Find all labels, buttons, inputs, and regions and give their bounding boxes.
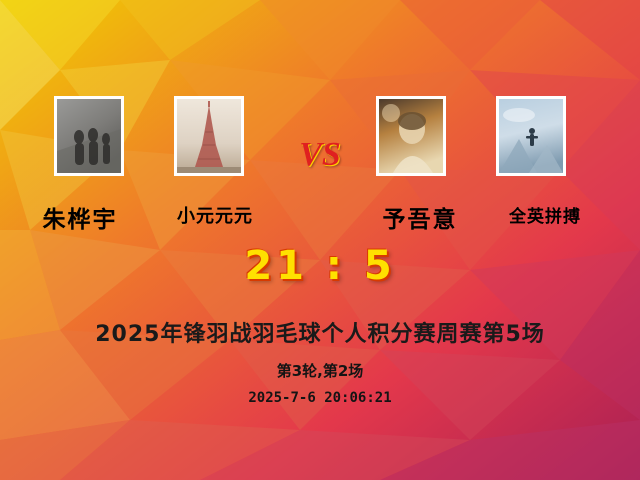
match-scoreboard: VS 朱桦宇 小元元元 予吾意 全英拼搏 21 : 5 2025年锋羽战羽毛球个… bbox=[0, 0, 640, 480]
player-photo-card-1 bbox=[54, 96, 124, 176]
portrait-photo bbox=[379, 99, 443, 173]
eiffel-tower-photo bbox=[177, 99, 241, 173]
person-on-cliff-photo bbox=[499, 99, 563, 173]
player-name-1: 朱桦宇 bbox=[20, 200, 140, 234]
player-name-4: 全英拼搏 bbox=[485, 202, 605, 227]
silhouette-photo bbox=[57, 99, 121, 173]
player-name-3: 予吾意 bbox=[360, 200, 480, 234]
vs-label: VS bbox=[285, 136, 355, 174]
player-photo-card-4 bbox=[496, 96, 566, 176]
player-photo-card-3 bbox=[376, 96, 446, 176]
player-name-2: 小元元元 bbox=[160, 202, 270, 228]
background-lowpoly bbox=[0, 0, 640, 480]
match-round-label: 第3轮,第2场 bbox=[0, 360, 640, 381]
player-photo-card-2 bbox=[174, 96, 244, 176]
score-display: 21 : 5 bbox=[220, 243, 420, 289]
match-timestamp: 2025-7-6 20:06:21 bbox=[0, 390, 640, 406]
match-title: 2025年锋羽战羽毛球个人积分赛周赛第5场 bbox=[0, 316, 640, 348]
